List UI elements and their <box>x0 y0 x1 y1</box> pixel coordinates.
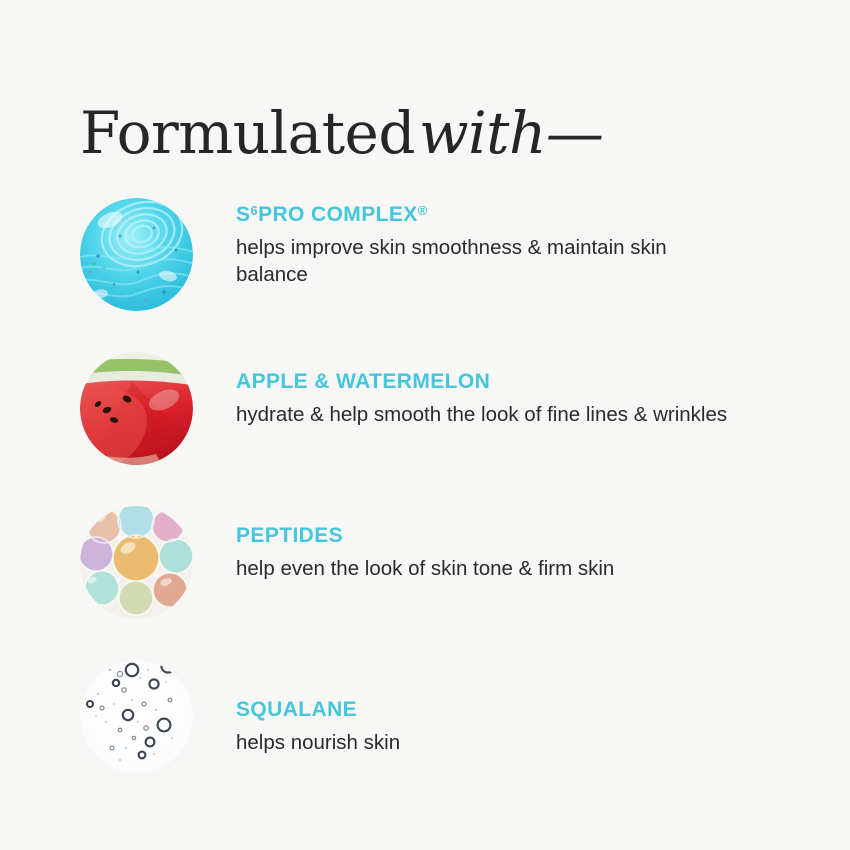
ingredient-text-block: APPLE & WATERMELON hydrate & help smooth… <box>193 336 850 428</box>
formulated-with-panel: Formulatedwith— <box>0 0 850 850</box>
ingredient-text-block: SQUALANE helps nourish skin <box>193 644 850 756</box>
ingredient-name: S6PRO COMPLEX® <box>236 202 850 227</box>
ingredient-name-suffix: PRO COMPLEX <box>258 203 418 226</box>
ingredient-description: helps improve skin smoothness & maintain… <box>236 234 736 288</box>
page-title-roman: Formulated <box>80 99 415 167</box>
registered-trademark-icon: ® <box>418 203 428 218</box>
ingredient-name-prefix: APPLE & WATERMELON <box>236 370 490 393</box>
pastel-bubbles-icon <box>80 506 193 619</box>
ingredient-name-prefix: SQUALANE <box>236 698 357 721</box>
ingredient-row: PEPTIDES help even the look of skin tone… <box>0 490 850 644</box>
ingredient-name: APPLE & WATERMELON <box>236 369 850 394</box>
ingredient-name: PEPTIDES <box>236 523 850 548</box>
ingredient-row: S6PRO COMPLEX® helps improve skin smooth… <box>0 182 850 336</box>
ingredient-row: APPLE & WATERMELON hydrate & help smooth… <box>0 336 850 490</box>
ingredient-description: helps nourish skin <box>236 729 736 756</box>
ingredient-name-superscript: 6 <box>250 203 258 218</box>
ingredient-text-block: PEPTIDES help even the look of skin tone… <box>193 490 850 582</box>
ingredient-description: hydrate & help smooth the look of fine l… <box>236 401 736 428</box>
ingredient-list: S6PRO COMPLEX® helps improve skin smooth… <box>0 182 850 798</box>
page-title-italic: with— <box>419 99 603 167</box>
ingredient-description: help even the look of skin tone & firm s… <box>236 555 736 582</box>
ingredient-text-block: S6PRO COMPLEX® helps improve skin smooth… <box>193 182 850 288</box>
cyan-gel-swirl-icon <box>80 198 193 311</box>
ingredient-name-prefix: S <box>236 203 250 226</box>
page-title: Formulatedwith— <box>80 103 603 164</box>
watermelon-slice-icon <box>80 352 193 465</box>
ingredient-name: SQUALANE <box>236 697 850 722</box>
ingredient-name-prefix: PEPTIDES <box>236 524 343 547</box>
ingredient-row: SQUALANE helps nourish skin <box>0 644 850 798</box>
clear-oil-bubbles-icon <box>80 660 193 773</box>
